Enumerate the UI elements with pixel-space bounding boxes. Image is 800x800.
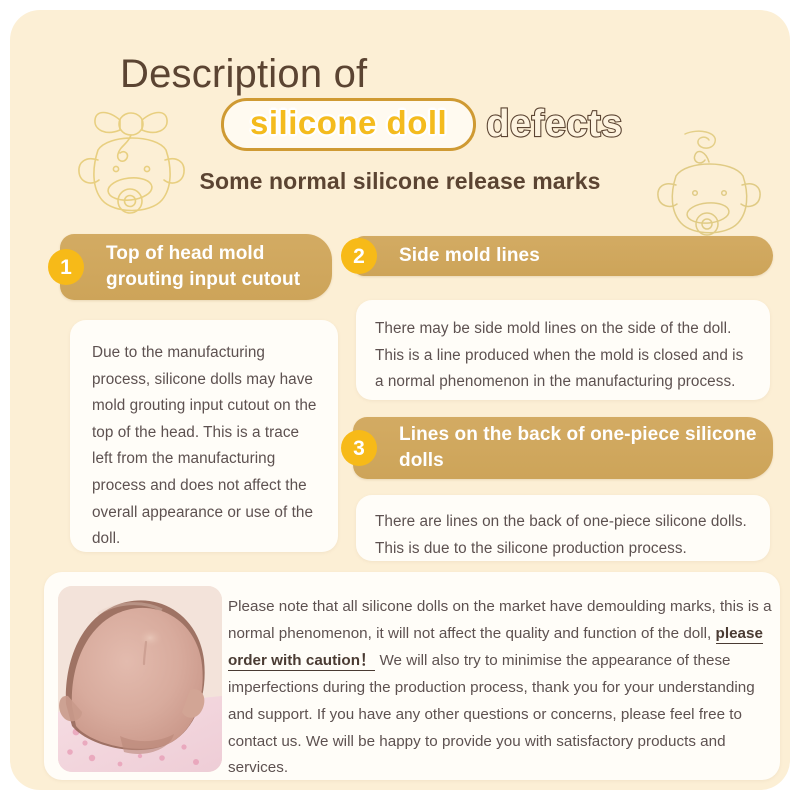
section-badge-2: 2 — [341, 238, 377, 274]
section-title-3: Lines on the back of one-piece silicone … — [399, 422, 773, 473]
section-header-3: 3 Lines on the back of one-piece silicon… — [353, 417, 773, 479]
page-title-suffix: defects — [486, 103, 623, 146]
note-text: Please note that all silicone dolls on t… — [228, 594, 774, 782]
section-body-card-2: There may be side mold lines on the side… — [356, 300, 770, 400]
infographic-panel: Description of silicone doll defects Som… — [10, 10, 790, 790]
section-header-1: 1 Top of head mold grouting input cutout — [60, 234, 332, 300]
section-body-card-1: Due to the manufacturing process, silico… — [70, 320, 338, 552]
section-body-card-3: There are lines on the back of one-piece… — [356, 495, 770, 561]
doll-head-photo — [58, 586, 222, 772]
section-title-1: Top of head mold grouting input cutout — [106, 241, 332, 292]
section-body-text-3: There are lines on the back of one-piece… — [375, 509, 752, 562]
page-subtitle: Some normal silicone release marks — [10, 168, 790, 195]
doll-head-photo-image — [58, 586, 222, 772]
baby-face-bow-icon — [68, 106, 194, 228]
page-title-line2: silicone doll defects — [221, 98, 623, 151]
note-text-part1: Please note that all silicone dolls on t… — [228, 598, 772, 642]
section-body-text-2: There may be side mold lines on the side… — [375, 316, 752, 396]
section-badge-3: 3 — [341, 430, 377, 466]
highlight-pill-silicone-doll: silicone doll — [221, 98, 476, 151]
swirl-icon — [682, 128, 722, 156]
section-title-2: Side mold lines — [399, 243, 554, 269]
page-title-line1: Description of — [120, 52, 367, 97]
section-body-text-1: Due to the manufacturing process, silico… — [92, 340, 320, 553]
section-header-2: 2 Side mold lines — [353, 236, 773, 276]
section-badge-1: 1 — [48, 249, 84, 285]
